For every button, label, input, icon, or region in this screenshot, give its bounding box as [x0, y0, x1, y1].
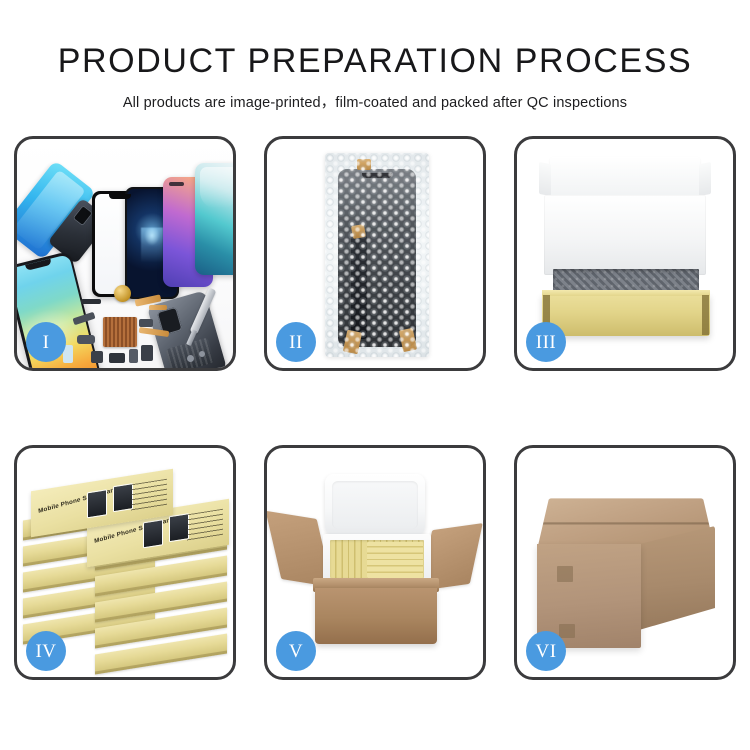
carton-body-icon: [315, 588, 437, 644]
product-preparation-infographic: PRODUCT PREPARATION PROCESS All products…: [0, 0, 750, 750]
step-panel-5: V: [264, 445, 486, 680]
step-badge-5: V: [276, 631, 316, 671]
yellow-boxes-inside-icon: [367, 542, 423, 578]
wrapped-screen-icon: [338, 169, 416, 347]
step-badge-2: II: [276, 322, 316, 362]
spare-part-icon: [129, 349, 138, 363]
box-label-text: Mobile Phone Spare Parts: [38, 485, 119, 514]
styrofoam-lid-icon: [325, 474, 425, 536]
carton-tape-icon: [557, 566, 573, 582]
step-panel-6: VI: [514, 445, 736, 680]
spare-part-icon: [91, 351, 103, 363]
process-steps-grid: I II: [14, 136, 736, 681]
spare-part-icon: [139, 319, 153, 327]
spare-part-icon: [77, 335, 95, 344]
screw-icon: [199, 351, 205, 357]
logic-board-chip-icon: [103, 317, 137, 347]
vibration-motor-part-icon: [114, 285, 131, 302]
flex-cable-icon: [149, 305, 167, 310]
page-title: PRODUCT PREPARATION PROCESS: [0, 44, 750, 80]
step-badge-3: III: [526, 322, 566, 362]
tape-icon: [343, 330, 362, 355]
white-foam-sheet-icon: [544, 195, 706, 275]
step-badge-4: IV: [26, 631, 66, 671]
spare-part-icon: [141, 345, 153, 361]
screw-icon: [187, 355, 194, 362]
step-badge-1: I: [26, 322, 66, 362]
carton-tape-icon: [559, 624, 575, 638]
spare-part-icon: [81, 299, 101, 304]
bubble-wrap-bag-icon: [325, 153, 429, 357]
yellow-box-base-icon: [542, 294, 710, 336]
step-panel-4: Mobile Phone Spare Parts Mobile Phone Sp…: [14, 445, 236, 680]
header: PRODUCT PREPARATION PROCESS All products…: [0, 0, 750, 112]
wrapped-flex-cable-icon: [351, 231, 367, 339]
tape-icon: [357, 159, 371, 170]
step-panel-2: II: [264, 136, 486, 371]
phone-teal-gradient-icon: [195, 163, 233, 275]
step-panel-1: I: [14, 136, 236, 371]
shipping-carton-side-icon: [639, 526, 715, 630]
step-badge-6: VI: [526, 631, 566, 671]
spare-part-icon: [109, 353, 125, 363]
step-panel-3: III: [514, 136, 736, 371]
page-subtitle: All products are image-printed，film-coat…: [0, 91, 750, 112]
tape-icon: [351, 224, 366, 239]
